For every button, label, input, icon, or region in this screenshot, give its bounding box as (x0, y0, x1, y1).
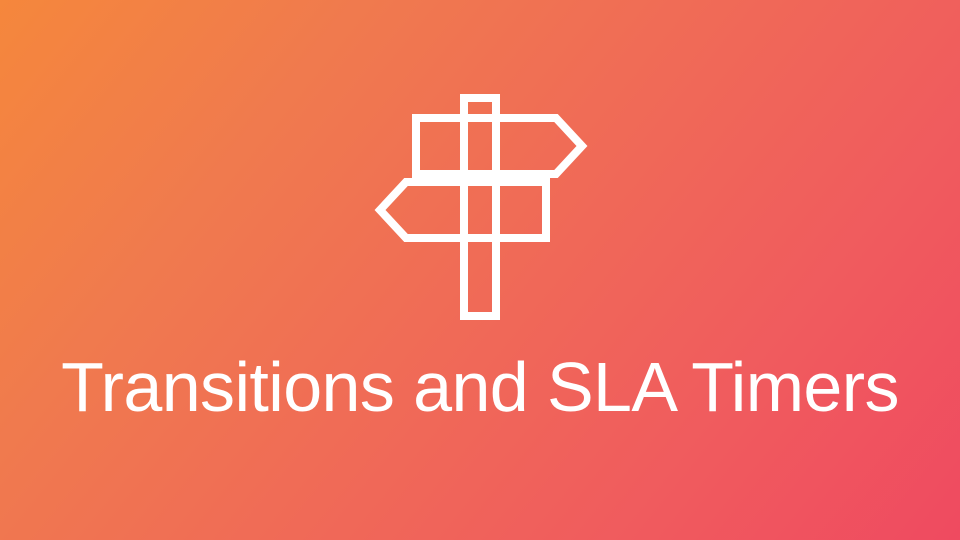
signpost-post (464, 98, 496, 316)
page-title: Transitions and SLA Timers (0, 352, 960, 422)
title-slide: Transitions and SLA Timers (0, 0, 960, 540)
signpost-icon (368, 84, 592, 322)
icon-container (0, 78, 960, 328)
title-block: Transitions and SLA Timers (0, 352, 960, 422)
